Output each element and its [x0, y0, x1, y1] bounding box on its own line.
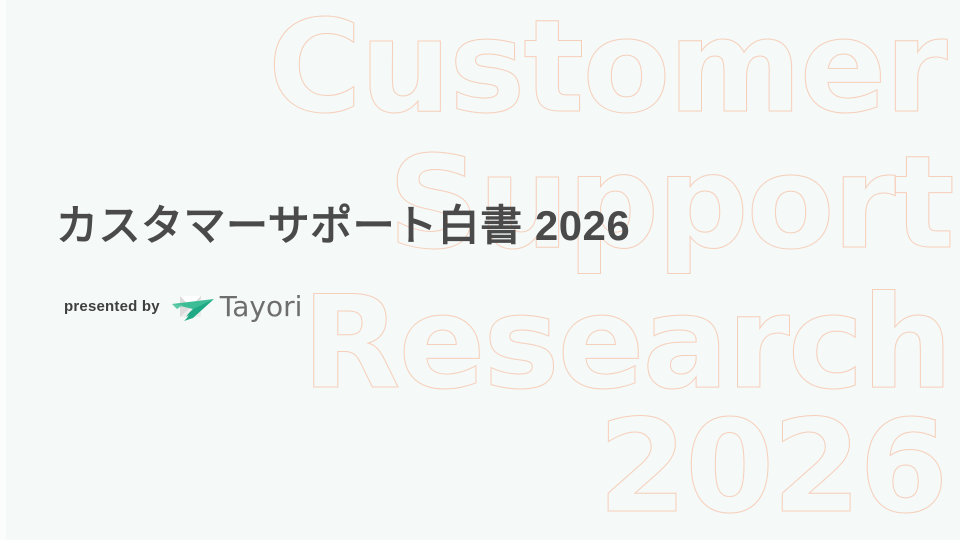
presented-by-label: presented by: [64, 298, 160, 315]
tayori-logo: [170, 291, 216, 323]
title-slide: Customer Support Research 2026 カスタマーサポート…: [0, 0, 960, 540]
background-outline-line-1: Customer: [268, 4, 946, 132]
background-outline-line-4: 2026: [598, 404, 946, 532]
background-outline-line-3: Research: [302, 280, 951, 408]
presented-by-row: presented by: [64, 290, 302, 323]
tayori-wordmark: Tayori: [220, 290, 303, 323]
tayori-brand-lockup: Tayori: [170, 290, 303, 323]
background-outline-typography: Customer Support Research 2026: [0, 0, 960, 540]
page-title: カスタマーサポート白書 2026: [56, 200, 716, 253]
left-gutter-strip: [0, 0, 6, 540]
title-block: カスタマーサポート白書 2026: [56, 200, 716, 253]
envelope-paper-plane-icon: [170, 291, 216, 323]
